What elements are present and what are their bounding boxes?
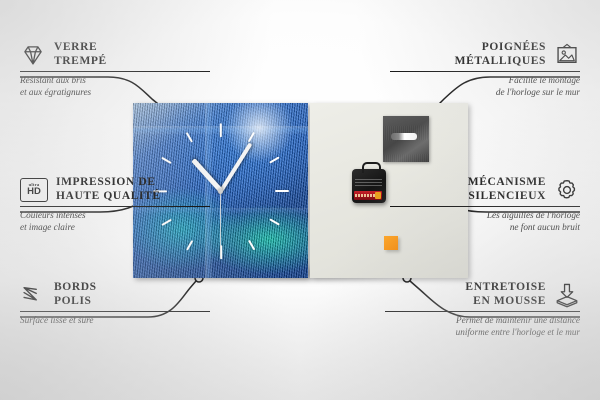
battery	[354, 191, 382, 200]
feature-title-line2: MÉTALLIQUES	[455, 55, 546, 69]
feature-sub-line1: Les aiguilles de l'horloge	[390, 210, 580, 222]
feature-sub-line2: ne font aucun bruit	[390, 222, 580, 234]
feature-title-line1: IMPRESSION DE	[56, 176, 161, 190]
feature-bords-polis: BORDS POLIS Surface lisse et sûre	[20, 281, 210, 327]
plate-keyhole-slot	[391, 133, 417, 140]
feature-header: MÉCANISME SILENCIEUX	[390, 176, 580, 203]
feature-sub-line2: et image claire	[20, 222, 210, 234]
feature-header: ENTRETOISE EN MOUSSE	[385, 281, 580, 308]
movement-hanger-loop	[362, 162, 381, 173]
movement-label	[355, 178, 382, 186]
feature-rule	[20, 206, 210, 207]
diamond-icon	[20, 42, 46, 68]
feature-verre-trempe: VERRE TREMPÉ Résistant aux bris et aux é…	[20, 41, 210, 99]
clock-tick	[219, 123, 221, 137]
feature-rule	[390, 71, 580, 72]
feature-title-line1: VERRE	[54, 41, 107, 55]
feature-sub-line1: Couleurs intenses	[20, 210, 210, 222]
infographic-canvas: VERRE TREMPÉ Résistant aux bris et aux é…	[0, 0, 600, 400]
feature-poignees-metalliques: POIGNÉES MÉTALLIQUES Facilite le montage…	[390, 41, 580, 99]
feature-rule	[385, 311, 580, 312]
feature-rule	[20, 311, 210, 312]
feature-sub-line1: Surface lisse et sûre	[20, 315, 210, 327]
battery-label	[355, 194, 375, 197]
foam-spacer	[384, 236, 398, 250]
clock-hand-second	[220, 191, 221, 257]
feature-impression-haute-qualite: ultra HD IMPRESSION DE HAUTE QUALITÉ Cou…	[20, 176, 210, 234]
feature-rule	[20, 71, 210, 72]
ultra-hd-icon: ultra HD	[20, 178, 48, 202]
feature-title-line2: TREMPÉ	[54, 55, 107, 69]
feature-sub-line2: uniforme entre l'horloge et le mur	[385, 327, 580, 339]
feature-title-line1: ENTRETOISE	[465, 281, 546, 295]
feature-header: BORDS POLIS	[20, 281, 210, 308]
ultra-hd-icon-large-text: HD	[27, 187, 41, 197]
feature-rule	[390, 206, 580, 207]
feature-sub-line1: Facilite le montage	[390, 75, 580, 87]
feature-title-line2: SILENCIEUX	[468, 190, 546, 204]
feature-header: ultra HD IMPRESSION DE HAUTE QUALITÉ	[20, 176, 210, 203]
feature-title-line2: EN MOUSSE	[465, 295, 546, 309]
foam-spacer-icon	[554, 282, 580, 308]
clock-movement	[352, 169, 386, 203]
metal-hanger-plate	[383, 116, 429, 162]
picture-frame-hanger-icon	[554, 42, 580, 68]
feature-sub-line2: et aux égratignures	[20, 87, 210, 99]
clock-center-hub	[218, 189, 223, 194]
feature-sub-line2: de l'horloge sur le mur	[390, 87, 580, 99]
feature-header: POIGNÉES MÉTALLIQUES	[390, 41, 580, 68]
polished-edges-icon	[20, 282, 46, 308]
feature-entretoise-en-mousse: ENTRETOISE EN MOUSSE Permet de maintenir…	[385, 281, 580, 339]
gear-icon	[554, 177, 580, 203]
feature-sub-line1: Permet de maintenir une distance	[385, 315, 580, 327]
feature-title-line2: POLIS	[54, 295, 97, 309]
feature-title-line1: POIGNÉES	[455, 41, 546, 55]
feature-header: VERRE TREMPÉ	[20, 41, 210, 68]
feature-title-line2: HAUTE QUALITÉ	[56, 190, 161, 204]
feature-sub-line1: Résistant aux bris	[20, 75, 210, 87]
feature-title-line1: MÉCANISME	[468, 176, 546, 190]
feature-mecanisme-silencieux: MÉCANISME SILENCIEUX Les aiguilles de l'…	[390, 176, 580, 234]
battery-positive-terminal	[375, 192, 381, 199]
feature-title-line1: BORDS	[54, 281, 97, 295]
